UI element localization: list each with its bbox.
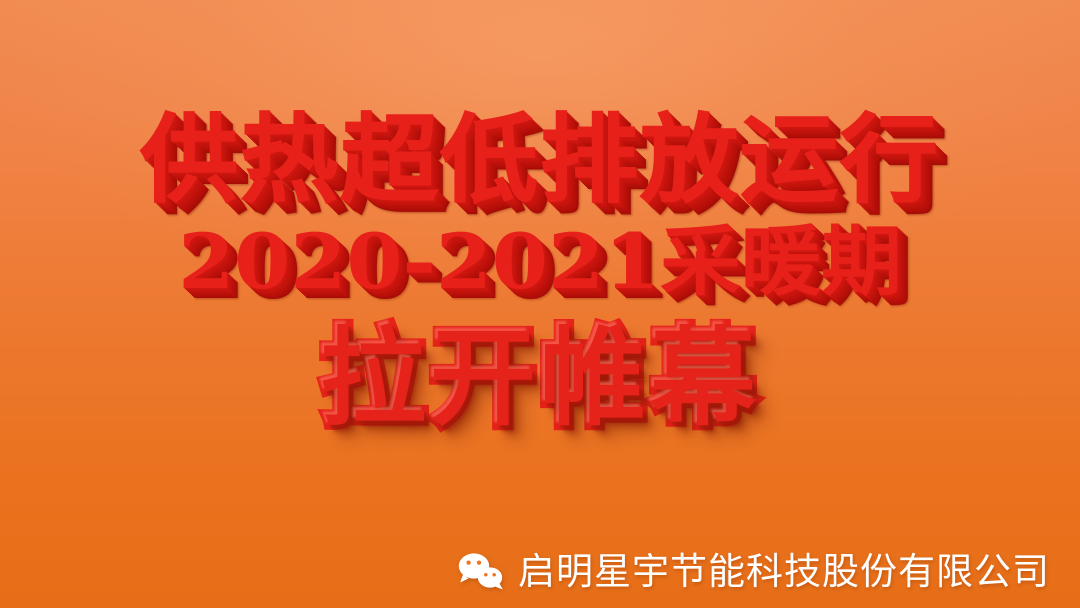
promo-poster: 供热超低排放运行 2020-2021采暖期 拉开帷幕 启明星宇节能科技股份有限公… bbox=[0, 0, 1080, 608]
headline-years: 2020-2021 bbox=[178, 217, 660, 306]
headline-line-2: 2020-2021采暖期 bbox=[0, 224, 1080, 300]
headline-block: 供热超低排放运行 2020-2021采暖期 拉开帷幕 bbox=[0, 112, 1080, 432]
headline-line-3: 拉开帷幕 bbox=[0, 326, 1080, 432]
footer-brand: 启明星宇节能科技股份有限公司 bbox=[458, 552, 1050, 590]
company-name: 启明星宇节能科技股份有限公司 bbox=[518, 553, 1050, 590]
headline-season-label: 采暖期 bbox=[660, 217, 902, 306]
wechat-icon bbox=[458, 552, 504, 590]
headline-line-1: 供热超低排放运行 bbox=[0, 112, 1080, 208]
